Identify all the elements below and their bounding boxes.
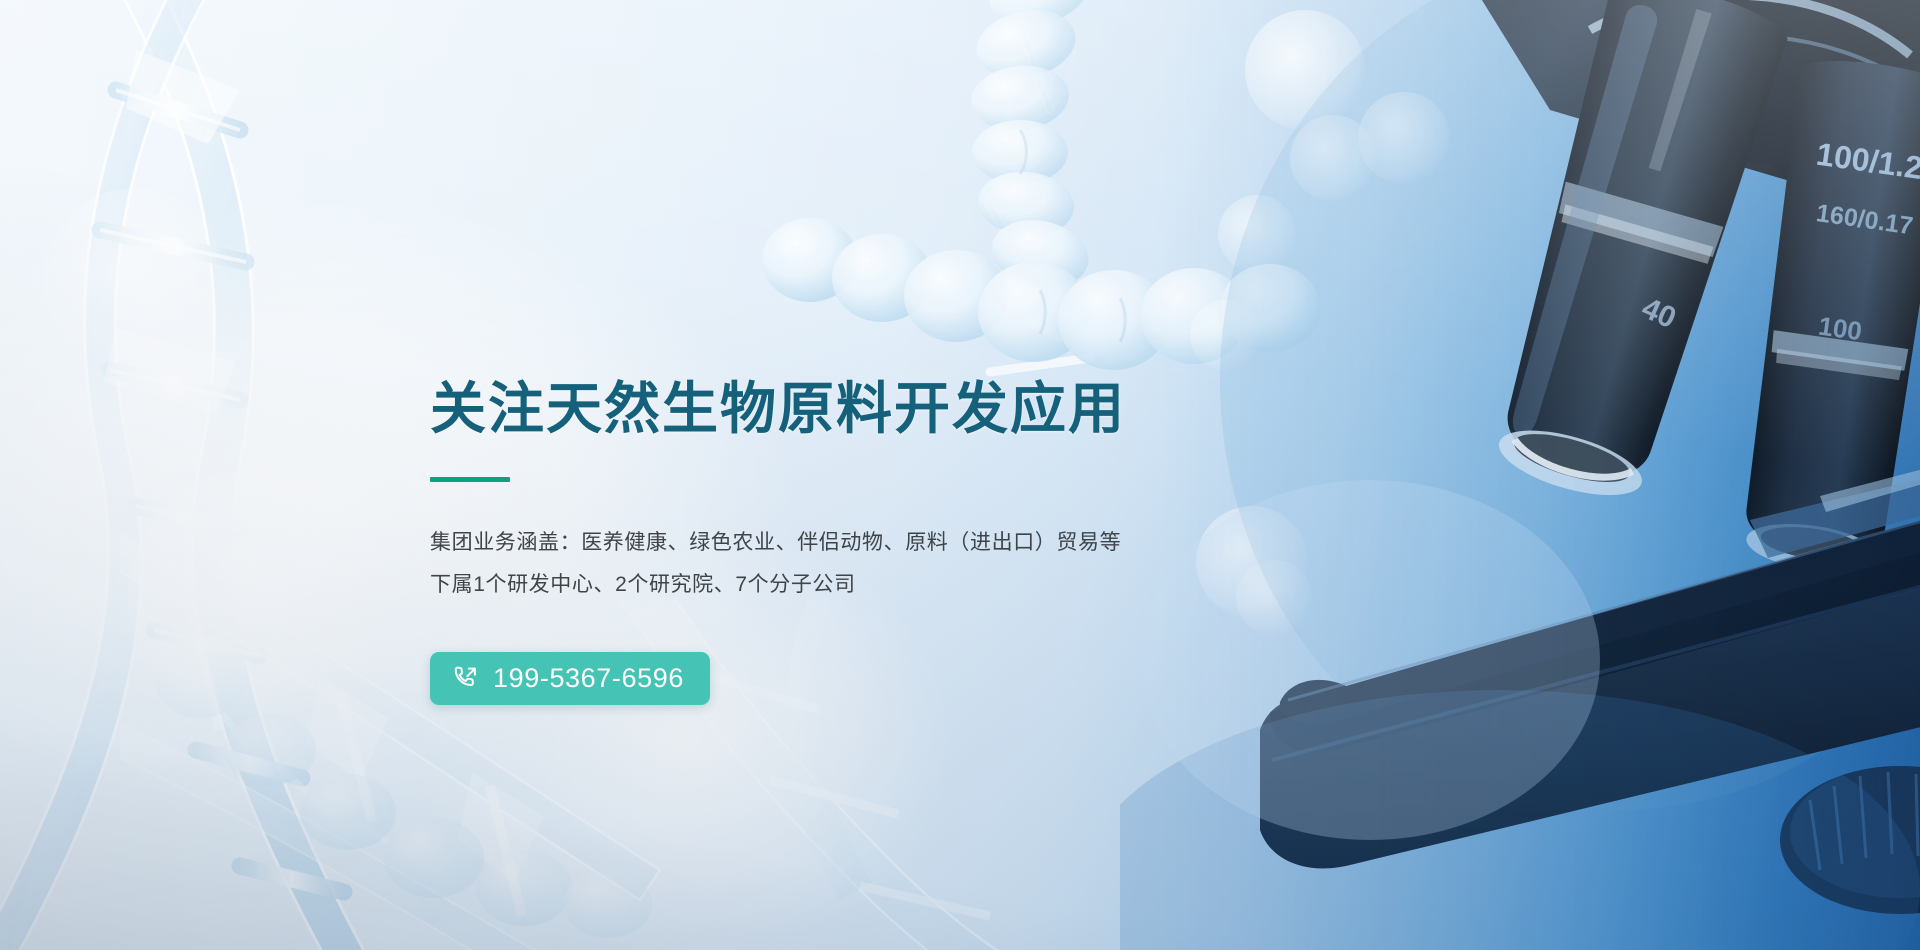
page-title: 关注天然生物原料开发应用 bbox=[430, 380, 1330, 439]
accent-rule bbox=[430, 477, 510, 482]
hero-subtitle: 集团业务涵盖：医养健康、绿色农业、伴侣动物、原料（进出口）贸易等 下属1个研发中… bbox=[430, 522, 1330, 606]
hero-banner: 40 100/1.25 160/0.17 100 bbox=[0, 0, 1920, 950]
hero-content: 关注天然生物原料开发应用 集团业务涵盖：医养健康、绿色农业、伴侣动物、原料（进出… bbox=[430, 380, 1330, 705]
subtitle-line-2: 下属1个研发中心、2个研究院、7个分子公司 bbox=[430, 564, 1330, 606]
subtitle-line-1: 集团业务涵盖：医养健康、绿色农业、伴侣动物、原料（进出口）贸易等 bbox=[430, 522, 1330, 564]
phone-forward-icon bbox=[452, 664, 480, 692]
phone-number: 199-5367-6596 bbox=[493, 665, 684, 692]
phone-call-button[interactable]: 199-5367-6596 bbox=[430, 652, 710, 705]
